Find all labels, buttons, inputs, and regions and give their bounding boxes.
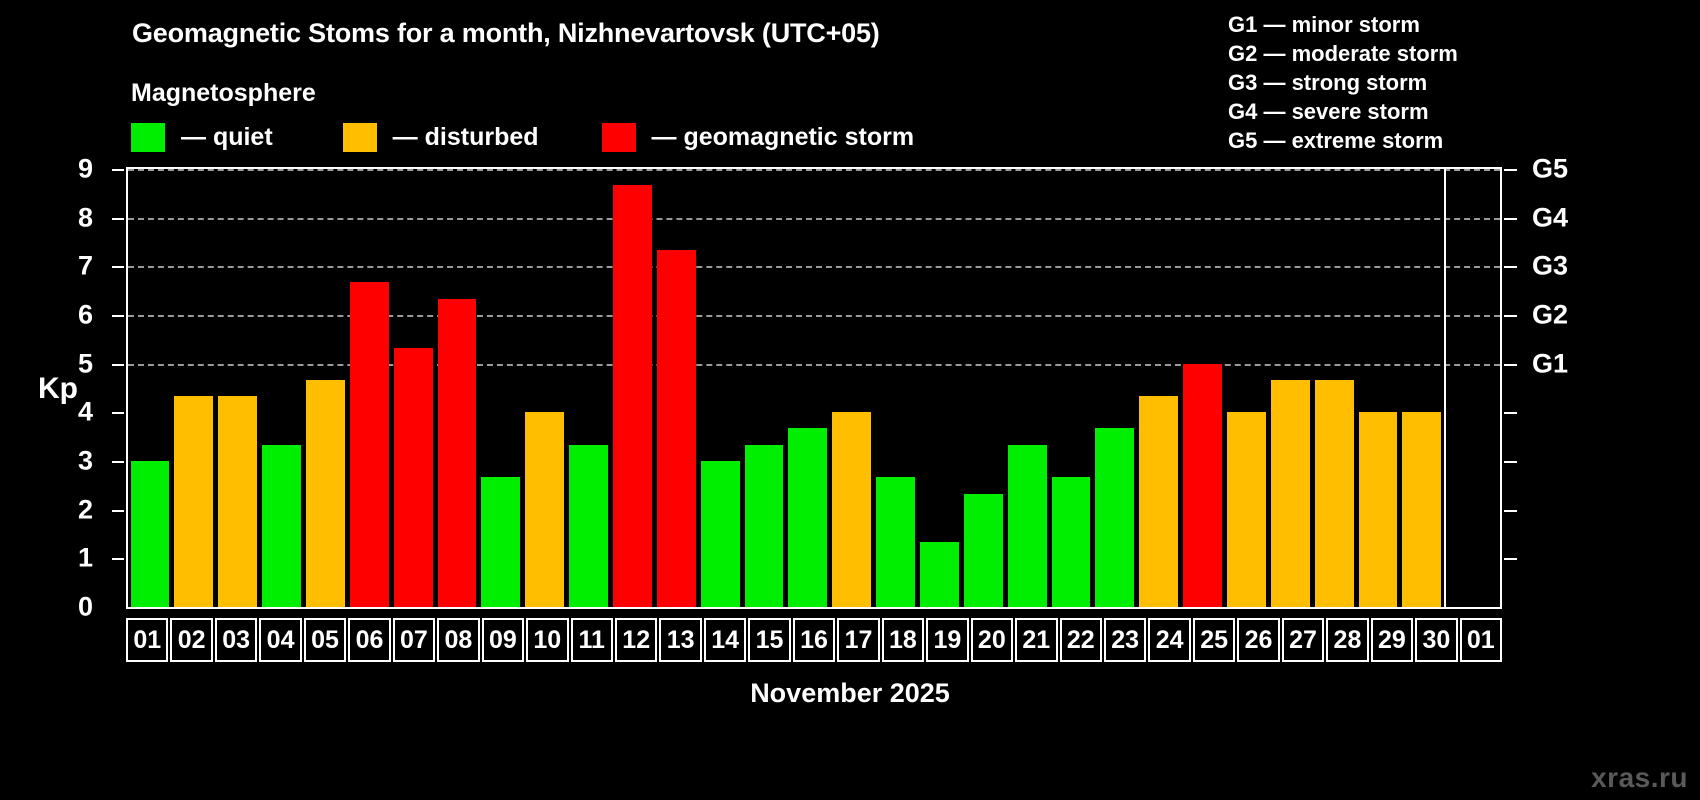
bar-day-13[interactable] (657, 250, 696, 607)
g-axis-tick-g1 (1504, 364, 1517, 366)
bar-day-30[interactable] (1402, 412, 1441, 607)
day-label-25[interactable]: 26 (1237, 618, 1279, 662)
legend-item-storm: — geomagnetic storm (602, 123, 915, 152)
bar-day-15[interactable] (745, 445, 784, 607)
bar-day-19[interactable] (920, 542, 959, 607)
bar-slot[interactable] (1400, 169, 1444, 607)
day-label-12[interactable]: 13 (659, 618, 701, 662)
bar-day-22[interactable] (1052, 477, 1091, 607)
g-scale-row-g2: G2 — moderate storm (1228, 39, 1558, 68)
bar-slot[interactable] (1049, 169, 1093, 607)
g-axis-label-g5: G5 (1532, 154, 1568, 185)
day-label-0[interactable]: 01 (126, 618, 168, 662)
bar-slot[interactable] (1356, 169, 1400, 607)
bar-day-05[interactable] (306, 380, 345, 607)
bar-slot[interactable] (1005, 169, 1049, 607)
bar-day-23[interactable] (1095, 428, 1134, 607)
y-tick-label-4: 4 (78, 397, 93, 428)
day-label-27[interactable]: 28 (1326, 618, 1368, 662)
g-scale-row-g3: G3 — strong storm (1228, 68, 1558, 97)
bar-slot[interactable] (1312, 169, 1356, 607)
day-label-11[interactable]: 12 (615, 618, 657, 662)
bar-day-27[interactable] (1271, 380, 1310, 607)
bar-slot[interactable] (830, 169, 874, 607)
g-axis-label-g1: G1 (1532, 348, 1568, 379)
bar-day-09[interactable] (481, 477, 520, 607)
g-axis-minor-tick-3 (1504, 461, 1517, 463)
bar-slot[interactable] (1268, 169, 1312, 607)
y-tick-mark-1 (112, 558, 124, 560)
y-tick-mark-4 (112, 412, 124, 414)
bar-slot[interactable] (479, 169, 523, 607)
day-label-10[interactable]: 11 (571, 618, 613, 662)
bar-day-02[interactable] (174, 396, 213, 607)
bar-day-29[interactable] (1359, 412, 1398, 607)
bar-slot[interactable] (435, 169, 479, 607)
bar-slot[interactable] (917, 169, 961, 607)
day-label-6[interactable]: 07 (393, 618, 435, 662)
g-scale-row-g1: G1 — minor storm (1228, 10, 1558, 39)
bar-slot[interactable] (523, 169, 567, 607)
y-tick-mark-6 (112, 315, 124, 317)
bar-slot[interactable] (1181, 169, 1225, 607)
orange-square-icon (343, 123, 377, 152)
bar-day-20[interactable] (964, 494, 1003, 607)
day-label-16[interactable]: 17 (837, 618, 879, 662)
day-label-8[interactable]: 09 (482, 618, 524, 662)
g-axis-label-g2: G2 (1532, 300, 1568, 331)
bar-slot[interactable] (172, 169, 216, 607)
y-tick-label-7: 7 (78, 251, 93, 282)
day-label-9[interactable]: 10 (526, 618, 568, 662)
y-tick-label-8: 8 (78, 202, 93, 233)
bar-day-17[interactable] (832, 412, 871, 607)
g-axis-tick-g2 (1504, 315, 1517, 317)
bar-slot[interactable] (786, 169, 830, 607)
bar-day-26[interactable] (1227, 412, 1266, 607)
legend-item-disturbed: — disturbed (343, 123, 539, 152)
g-axis-tick-g5 (1504, 169, 1517, 171)
y-tick-label-2: 2 (78, 494, 93, 525)
red-square-icon (602, 123, 636, 152)
bar-day-28[interactable] (1315, 380, 1354, 607)
bar-day-01[interactable] (131, 461, 170, 607)
bar-slot[interactable] (874, 169, 918, 607)
trailing-day-separator (1444, 169, 1446, 607)
day-label-21[interactable]: 22 (1060, 618, 1102, 662)
bar-day-25[interactable] (1183, 364, 1222, 607)
bar-slot[interactable] (216, 169, 260, 607)
y-tick-mark-8 (112, 218, 124, 220)
g-scale-row-g4: G4 — severe storm (1228, 97, 1558, 126)
page-title: Geomagnetic Stoms for a month, Nizhnevar… (132, 18, 880, 49)
day-label-14[interactable]: 15 (748, 618, 790, 662)
g-axis-tick-g4 (1504, 218, 1517, 220)
g-axis-minor-tick-2 (1504, 510, 1517, 512)
y-tick-label-9: 9 (78, 154, 93, 185)
day-label-3[interactable]: 04 (259, 618, 301, 662)
bar-day-12[interactable] (613, 185, 652, 607)
plot-area (126, 167, 1502, 609)
legend-label-quiet: — quiet (181, 123, 273, 152)
g-axis-minor-tick-4 (1504, 412, 1517, 414)
y-tick-mark-7 (112, 266, 124, 268)
g-axis-label-g4: G4 (1532, 202, 1568, 233)
bar-slot[interactable] (391, 169, 435, 607)
bar-slot[interactable] (567, 169, 611, 607)
bar-day-21[interactable] (1008, 445, 1047, 607)
y-tick-mark-9 (112, 169, 124, 171)
bar-slot[interactable] (742, 169, 786, 607)
day-label-22[interactable]: 23 (1104, 618, 1146, 662)
day-label-13[interactable]: 14 (704, 618, 746, 662)
bar-slot[interactable] (698, 169, 742, 607)
bar-slot[interactable] (654, 169, 698, 607)
day-label-18[interactable]: 19 (926, 618, 968, 662)
y-tick-label-1: 1 (78, 543, 93, 574)
bar-day-08[interactable] (438, 299, 477, 607)
y-tick-label-0: 0 (78, 592, 93, 623)
bar-slot[interactable] (1137, 169, 1181, 607)
bar-day-04[interactable] (262, 445, 301, 607)
bar-day-14[interactable] (701, 461, 740, 607)
day-label-20[interactable]: 21 (1015, 618, 1057, 662)
bar-day-07[interactable] (394, 348, 433, 607)
bar-slot[interactable] (260, 169, 304, 607)
day-label-24[interactable]: 25 (1193, 618, 1235, 662)
bar-slot[interactable] (1093, 169, 1137, 607)
y-tick-label-6: 6 (78, 300, 93, 331)
g-axis-tick-g3 (1504, 266, 1517, 268)
legend-label-storm: — geomagnetic storm (652, 123, 915, 152)
bar-slot[interactable] (303, 169, 347, 607)
day-label-23[interactable]: 24 (1148, 618, 1190, 662)
y-tick-mark-5 (112, 364, 124, 366)
y-tick-label-5: 5 (78, 348, 93, 379)
g-scale-legend: G1 — minor storm G2 — moderate storm G3 … (1228, 10, 1558, 155)
day-label-2[interactable]: 03 (215, 618, 257, 662)
day-label-15[interactable]: 16 (793, 618, 835, 662)
x-axis-title: November 2025 (0, 678, 1700, 709)
bar-slot[interactable] (961, 169, 1005, 607)
bar-day-24[interactable] (1139, 396, 1178, 607)
y-axis-title: Kp (38, 372, 78, 406)
magnetosphere-heading: Magnetosphere (131, 79, 316, 108)
bar-slot[interactable] (347, 169, 391, 607)
green-square-icon (131, 123, 165, 152)
y-tick-mark-2 (112, 510, 124, 512)
day-label-4[interactable]: 05 (304, 618, 346, 662)
day-label-28[interactable]: 29 (1371, 618, 1413, 662)
legend-label-disturbed: — disturbed (393, 123, 539, 152)
day-label-26[interactable]: 27 (1282, 618, 1324, 662)
bar-day-10[interactable] (525, 412, 564, 607)
plot-inner (128, 169, 1500, 607)
bar-day-11[interactable] (569, 445, 608, 607)
bar-day-03[interactable] (218, 396, 257, 607)
day-label-17[interactable]: 18 (882, 618, 924, 662)
day-label-19[interactable]: 20 (971, 618, 1013, 662)
day-label-1[interactable]: 02 (170, 618, 212, 662)
g-axis-label-g3: G3 (1532, 251, 1568, 282)
bar-slot[interactable] (128, 169, 172, 607)
bars-layer (128, 169, 1444, 607)
day-label-29[interactable]: 30 (1415, 618, 1457, 662)
legend-item-quiet: — quiet (131, 123, 273, 152)
y-tick-mark-3 (112, 461, 124, 463)
g-axis-minor-tick-1 (1504, 558, 1517, 560)
day-label-30[interactable]: 01 (1460, 618, 1502, 662)
magnetosphere-legend: — quiet — disturbed — geomagnetic storm (131, 123, 914, 152)
bar-slot[interactable] (610, 169, 654, 607)
x-axis-day-labels: 0102030405060708091011121314151617181920… (126, 618, 1502, 662)
day-label-5[interactable]: 06 (348, 618, 390, 662)
watermark: xras.ru (1591, 762, 1688, 794)
geomagnetic-storm-chart: Geomagnetic Stoms for a month, Nizhnevar… (0, 0, 1700, 800)
day-label-7[interactable]: 08 (437, 618, 479, 662)
bar-day-06[interactable] (350, 282, 389, 607)
g-scale-row-g5: G5 — extreme storm (1228, 126, 1558, 155)
y-tick-label-3: 3 (78, 446, 93, 477)
bar-day-18[interactable] (876, 477, 915, 607)
g-axis: G1G2G3G4G5 (1502, 167, 1700, 609)
bar-day-16[interactable] (788, 428, 827, 607)
bar-slot[interactable] (1224, 169, 1268, 607)
